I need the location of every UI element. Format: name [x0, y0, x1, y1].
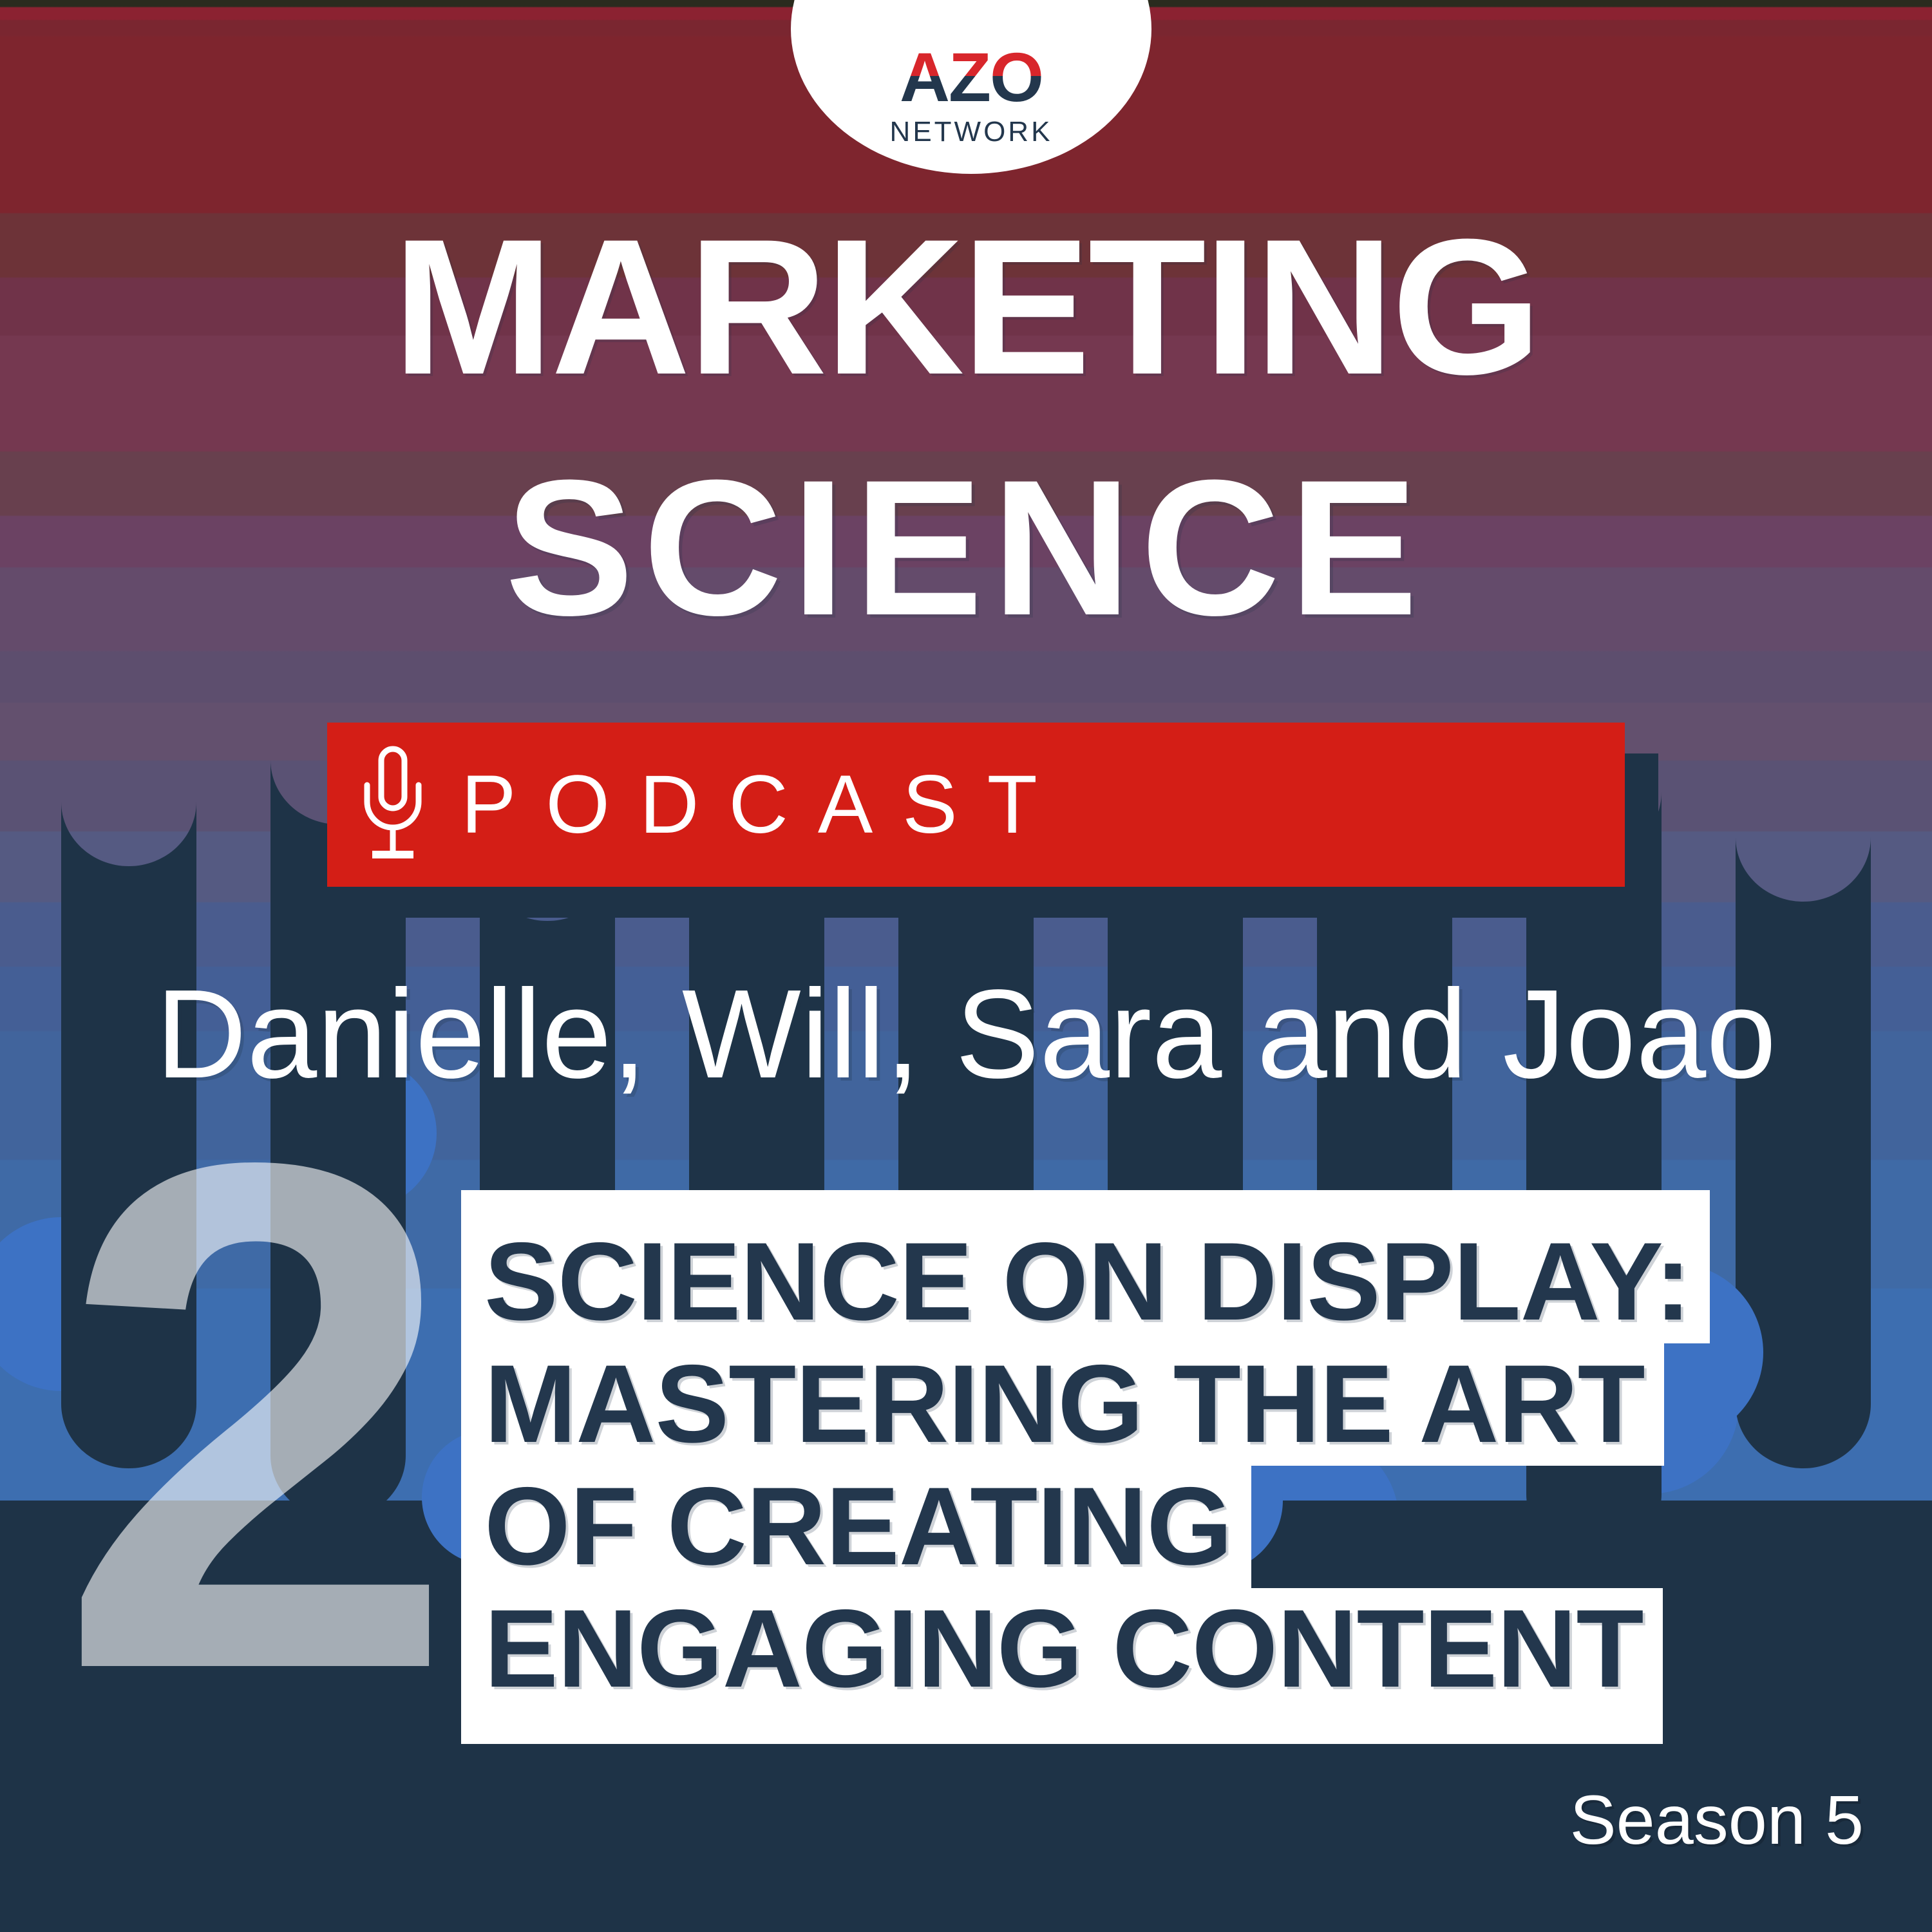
- episode-title: SCIENCE ON DISPLAY: MASTERING THE ART OF…: [461, 1190, 1710, 1744]
- microphone-icon-svg: [358, 745, 428, 864]
- episode-title-line-2: MASTERING THE ART: [461, 1343, 1664, 1466]
- azo-wordmark: AZO: [900, 43, 1043, 112]
- podcast-label: PODCAST: [461, 764, 1067, 846]
- podcast-cover-art: AZO NETWORK MARKETING SCIENCE PODCAST Da…: [0, 0, 1932, 1932]
- podcast-banner: PODCAST: [327, 723, 1625, 887]
- episode-title-line-1: SCIENCE ON DISPLAY:: [461, 1190, 1710, 1343]
- microphone-icon: [358, 745, 428, 864]
- azo-network-subtitle: NETWORK: [890, 116, 1053, 148]
- episode-title-line-4: ENGAGING CONTENT: [461, 1588, 1663, 1744]
- episode-number: 2: [57, 1056, 458, 1777]
- show-title-marketing: MARKETING: [0, 210, 1932, 403]
- show-title-science: SCIENCE: [0, 451, 1932, 644]
- season-label: Season 5: [1570, 1779, 1864, 1860]
- episode-title-line-3: OF CREATING: [461, 1466, 1251, 1588]
